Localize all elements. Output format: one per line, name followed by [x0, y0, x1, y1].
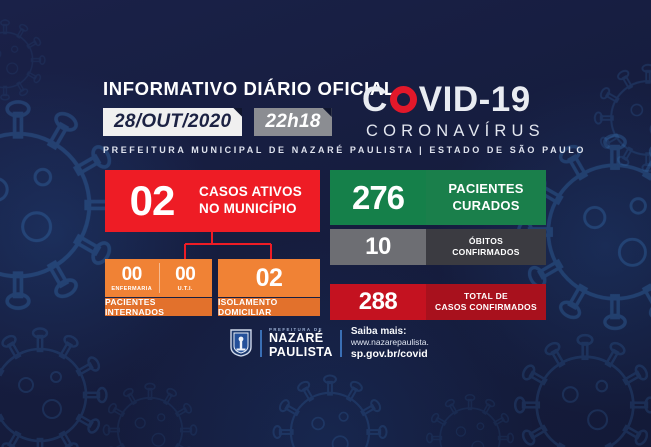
cell-enfermaria: 00 ENFERMARIA: [105, 259, 159, 297]
city-logo-text: PREFEITURA DE NAZARÉ PAULISTA: [269, 327, 333, 358]
covid-letter-c: C: [362, 82, 388, 117]
coat-of-arms-icon: [229, 329, 253, 357]
time-badge: 22h18: [254, 108, 331, 136]
covid-letters-rest: VID-19: [419, 82, 531, 117]
virus-pattern-icon: [0, 0, 651, 447]
enfermaria-value: 00: [122, 265, 142, 284]
group-pacientes-internados: 00 ENFERMARIA 00 U.T.I. PACIENTES INTERN…: [105, 259, 212, 316]
uti-label: U.T.I.: [178, 286, 193, 292]
covid-wordmark: C VID-19: [362, 82, 545, 117]
city-name-line2: PAULISTA: [269, 346, 333, 359]
obitos-label-line2: CONFIRMADOS: [426, 247, 546, 258]
curados-label-line1: PACIENTES: [426, 181, 546, 197]
badge-fold-corner: [323, 108, 332, 117]
saiba-divider: [340, 330, 342, 357]
cell-uti: 00 U.T.I.: [159, 259, 213, 297]
internados-cells: 00 ENFERMARIA 00 U.T.I.: [105, 259, 212, 297]
city-name-line1: NAZARÉ: [269, 332, 333, 345]
covid-logo: C VID-19 CORONAVÍRUS: [362, 82, 545, 141]
curados-value: 276: [330, 170, 426, 225]
curados-label-line2: CURADOS: [426, 198, 546, 214]
isolamento-value: 02: [256, 264, 283, 293]
logo-divider: [260, 330, 262, 357]
total-label: TOTAL DE CASOS CONFIRMADOS: [426, 291, 546, 314]
date-badge-text: 28/OUT/2020: [114, 111, 231, 133]
curados-label: PACIENTES CURADOS: [426, 181, 546, 214]
isolamento-group-label: ISOLAMENTO DOMICILIAR: [218, 298, 320, 316]
total-value: 288: [330, 284, 426, 320]
casos-ativos-label: CASOS ATIVOS NO MUNICÍPIO: [199, 184, 302, 218]
obitos-label: ÓBITOS CONFIRMADOS: [426, 236, 546, 259]
group-isolamento-domiciliar: 02 ISOLAMENTO DOMICILIAR: [218, 259, 320, 316]
casos-ativos-label-line2: NO MUNICÍPIO: [199, 201, 302, 218]
connector-bracket: [105, 232, 320, 260]
time-badge-text: 22h18: [265, 111, 320, 133]
casos-ativos-value: 02: [105, 177, 199, 225]
enfermaria-label: ENFERMARIA: [111, 286, 152, 292]
card-total-casos-confirmados: 288 TOTAL DE CASOS CONFIRMADOS: [330, 284, 546, 320]
coronavirus-subtitle: CORONAVÍRUS: [362, 122, 545, 141]
website-url-line2[interactable]: sp.gov.br/covid: [351, 348, 429, 360]
card-pacientes-curados: 276 PACIENTES CURADOS: [330, 170, 546, 225]
saiba-mais-block[interactable]: Saiba mais: www.nazarepaulista. sp.gov.b…: [351, 326, 429, 359]
website-url-line1[interactable]: www.nazarepaulista.: [351, 338, 429, 348]
obitos-label-line1: ÓBITOS: [426, 236, 546, 247]
obitos-value: 10: [330, 229, 426, 265]
total-label-line2: CASOS CONFIRMADOS: [426, 302, 546, 313]
uti-value: 00: [175, 265, 195, 284]
card-obitos-confirmados: 10 ÓBITOS CONFIRMADOS: [330, 229, 546, 265]
subtitle: PREFEITURA MUNICIPAL DE NAZARÉ PAULISTA …: [103, 145, 586, 155]
badge-fold-corner: [233, 108, 242, 117]
background: [0, 0, 651, 447]
date-badge: 28/OUT/2020: [103, 108, 242, 136]
cell-isolamento: 02: [218, 259, 320, 297]
footer: PREFEITURA DE NAZARÉ PAULISTA Saiba mais…: [229, 326, 429, 360]
casos-ativos-label-line1: CASOS ATIVOS: [199, 184, 302, 201]
isolamento-cells: 02: [218, 259, 320, 297]
total-label-line1: TOTAL DE: [426, 291, 546, 302]
virus-ring-icon: [390, 86, 417, 113]
internados-group-label: PACIENTES INTERNADOS: [105, 298, 212, 316]
card-casos-ativos: 02 CASOS ATIVOS NO MUNICÍPIO: [105, 170, 320, 232]
